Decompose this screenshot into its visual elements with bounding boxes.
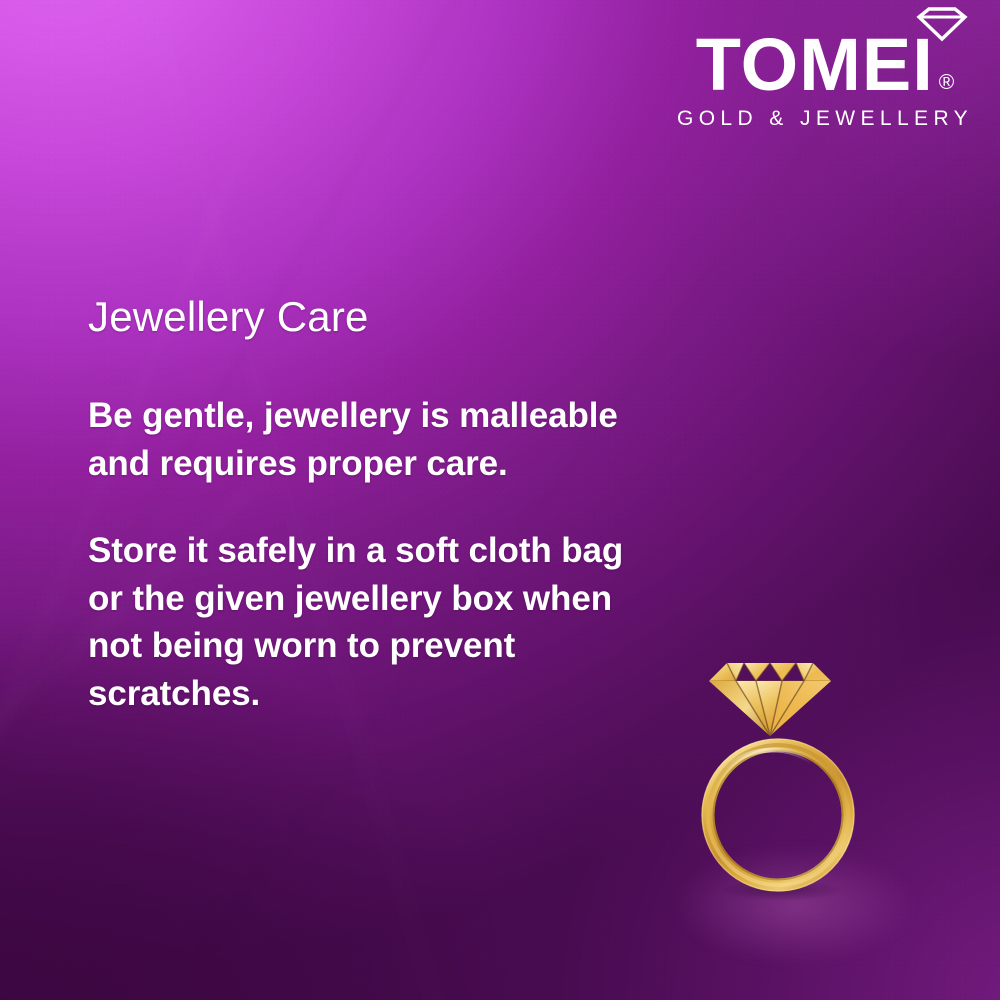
diamond-gem-icon: [709, 663, 831, 736]
diamond-ring-illustration: [700, 650, 870, 910]
brand-wordmark: TOMEI: [696, 30, 934, 100]
wordmark-row: TOMEI ®: [660, 6, 990, 100]
care-paragraph-2: Store it safely in a soft cloth bag or t…: [88, 527, 648, 717]
care-paragraph-1: Be gentle, jewellery is malleable and re…: [88, 392, 648, 487]
page-title: Jewellery Care: [88, 293, 648, 340]
brand-tagline: GOLD & JEWELLERY: [660, 107, 990, 131]
poster-canvas: TOMEI ® GOLD & JEWELLERY Jewellery Care …: [0, 0, 1000, 1000]
registered-trademark-icon: ®: [939, 72, 954, 93]
copy-block: Jewellery Care Be gentle, jewellery is m…: [88, 293, 648, 718]
brand-logo: TOMEI ® GOLD & JEWELLERY: [660, 6, 990, 131]
ring-band-icon: [702, 739, 854, 891]
